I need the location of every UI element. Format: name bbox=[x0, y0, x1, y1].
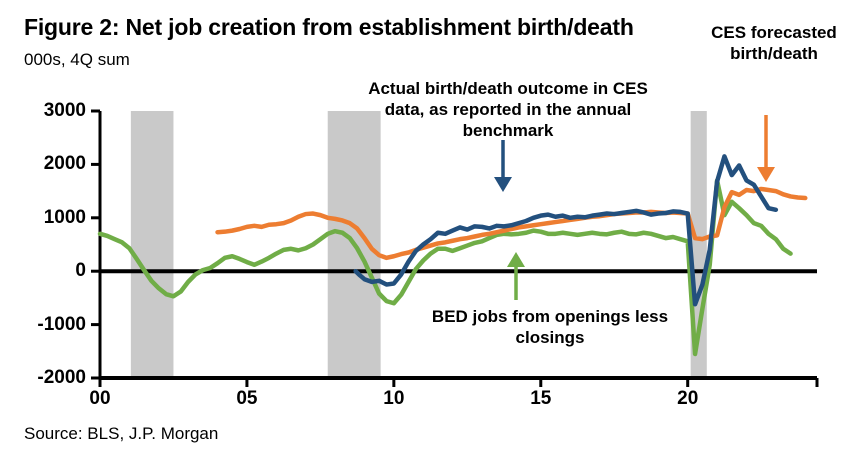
recession-band bbox=[131, 111, 174, 378]
x-axis-tick-label: 20 bbox=[663, 388, 713, 410]
y-axis-tick-label: 0 bbox=[12, 260, 86, 282]
y-axis-tick-label: 1000 bbox=[12, 207, 86, 229]
annotation-navy-arrow-head bbox=[494, 177, 512, 192]
y-axis-tick-label: -1000 bbox=[12, 314, 86, 336]
chart-plot-area bbox=[0, 0, 852, 459]
annotation-orange-label: CES forecasted birth/death bbox=[700, 22, 848, 64]
annotation-orange-arrow-head bbox=[757, 167, 775, 182]
y-axis-tick-label: 3000 bbox=[12, 100, 86, 122]
annotation-green-arrow-head bbox=[507, 252, 525, 267]
y-axis-tick-label: -2000 bbox=[12, 367, 86, 389]
x-axis-tick-label: 15 bbox=[516, 388, 566, 410]
annotation-green-label: BED jobs from openings less closings bbox=[405, 306, 695, 348]
x-axis-tick-label: 05 bbox=[222, 388, 272, 410]
x-axis-tick-label: 00 bbox=[75, 388, 125, 410]
series-line-navy bbox=[356, 156, 776, 304]
annotation-navy-label: Actual birth/death outcome in CES data, … bbox=[358, 78, 658, 141]
x-axis-tick-label: 10 bbox=[369, 388, 419, 410]
y-axis-tick-label: 2000 bbox=[12, 153, 86, 175]
figure-container: Figure 2: Net job creation from establis… bbox=[0, 0, 852, 459]
source-note: Source: BLS, J.P. Morgan bbox=[24, 424, 218, 444]
